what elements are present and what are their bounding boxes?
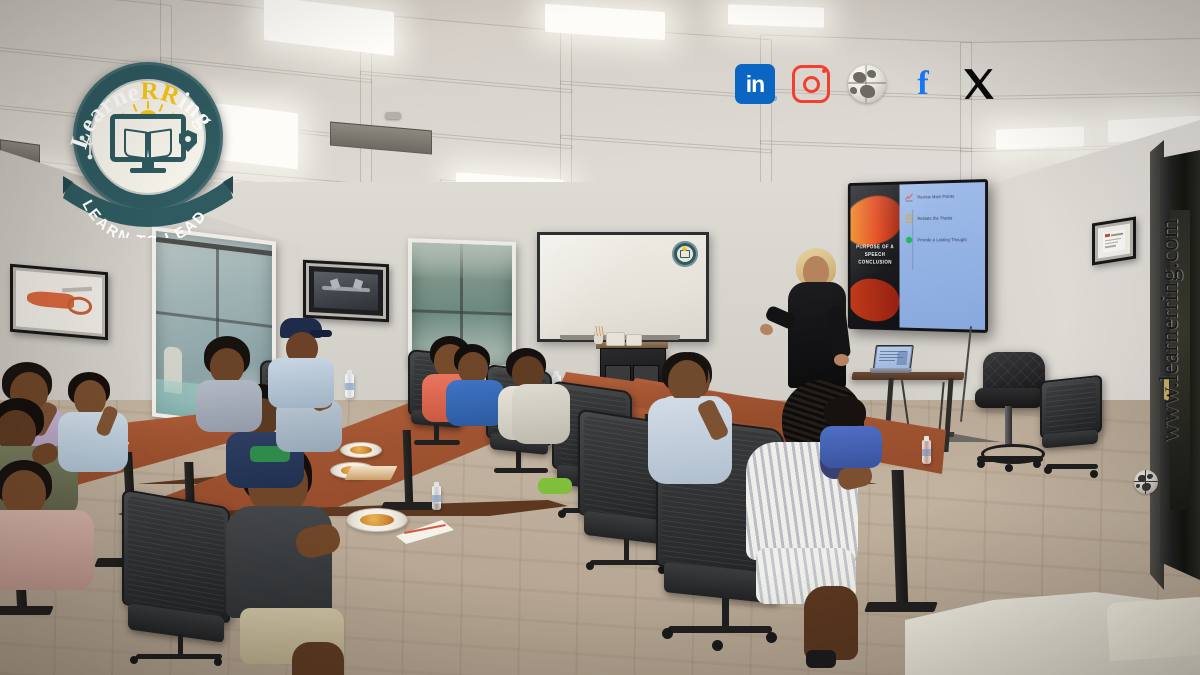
smoke-detector-icon (385, 112, 401, 119)
slide: PURPOSE OF A SPEECH CONCLUSION Review Ma… (851, 182, 986, 330)
ceiling-light-panel (996, 126, 1084, 149)
student (272, 318, 334, 400)
slide-bullet-text: Provide a Lasting Thought (917, 237, 966, 242)
logo-banner: LEARN TO LEAD (63, 164, 233, 238)
monitor-book-icon (110, 104, 186, 166)
table-foot (0, 606, 54, 615)
slide-bullet-text: Restate the Thesis (917, 216, 952, 221)
slide-bullet: Review Main Points (905, 191, 980, 202)
website-url-text: www.learnerring.com (1156, 170, 1184, 490)
classroom-photo-overlay: PURPOSE OF A SPEECH CONCLUSION Review Ma… (0, 0, 1200, 675)
student (196, 336, 262, 432)
student (0, 460, 98, 590)
whiteboard (537, 232, 709, 342)
student-leg (292, 642, 344, 675)
student-sock (806, 650, 836, 668)
helicopter-photo (10, 264, 108, 341)
office-chair[interactable] (118, 498, 234, 672)
presenter-hand-right (834, 354, 849, 366)
student (820, 396, 882, 468)
ceiling-light-panel (728, 4, 824, 27)
student (648, 352, 734, 502)
instagram-icon[interactable] (789, 62, 833, 106)
slide-bullet-text: Review Main Points (917, 194, 954, 200)
website-url-vertical: www.learnerring.com (1118, 170, 1174, 500)
water-bottle (922, 440, 931, 464)
brand-logo: LearneRRing (63, 60, 233, 238)
tissue-box (606, 332, 625, 346)
slide-title-panel: PURPOSE OF A SPEECH CONCLUSION (851, 185, 900, 328)
facebook-icon[interactable]: f (901, 62, 945, 106)
office-chair[interactable] (1040, 378, 1104, 488)
globe-icon (1134, 470, 1158, 494)
tissue-box (626, 334, 642, 346)
slide-title: PURPOSE OF A SPEECH CONCLUSION (856, 245, 894, 267)
student-leg (804, 586, 858, 660)
water-bottle (345, 374, 354, 398)
slide-bullet: Restate the Thesis (905, 213, 980, 223)
aircraft-photo (303, 260, 389, 323)
table-cloth-fold (1106, 597, 1200, 662)
paper-plate (346, 508, 408, 532)
presenter-laptop[interactable] (869, 345, 915, 375)
marker-bundle (594, 326, 604, 336)
linkedin-icon[interactable]: in ® (733, 62, 777, 106)
student-shoe (538, 478, 572, 494)
slide-body: Review Main Points Restate the Thesis Pr… (900, 182, 985, 330)
tv-display: PURPOSE OF A SPEECH CONCLUSION Review Ma… (848, 179, 988, 333)
chart-icon (905, 193, 913, 202)
student (512, 384, 570, 460)
student (58, 372, 128, 472)
social-icon-row: in ® f (733, 58, 1001, 110)
facebook-label: f (917, 67, 928, 101)
water-bottle (432, 486, 441, 510)
linkedin-label: in (746, 73, 764, 96)
network-node-icon (79, 134, 101, 160)
student (448, 344, 504, 424)
x-icon[interactable] (957, 62, 1001, 106)
presenter (772, 248, 856, 388)
slide-bullet: Provide a Lasting Thought (905, 235, 980, 244)
globe-icon[interactable] (845, 62, 889, 106)
registered-mark: ® (772, 96, 777, 103)
